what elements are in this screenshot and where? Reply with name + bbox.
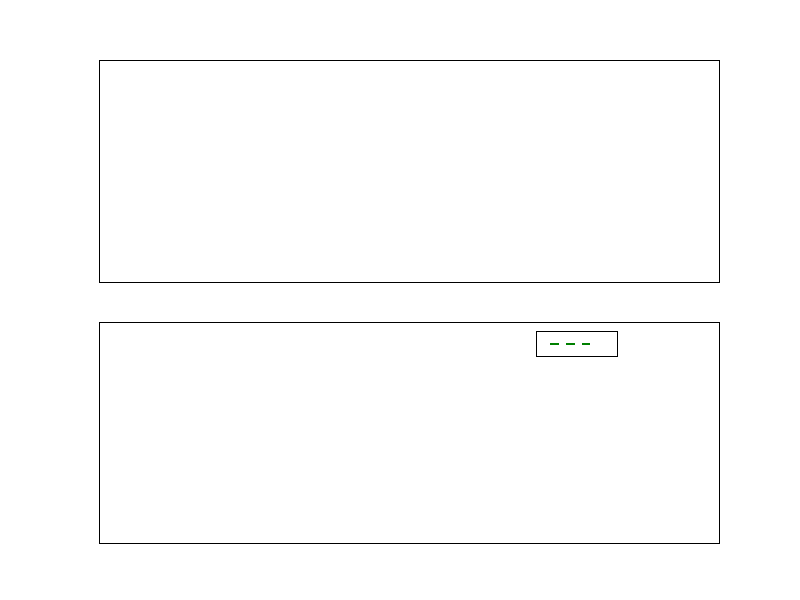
bottom-cumulative-plot xyxy=(100,323,718,542)
bottom-cumulative-axes xyxy=(99,322,720,544)
legend-box xyxy=(536,331,618,357)
figure-canvas xyxy=(0,0,800,600)
mag-limit-legend-swatch xyxy=(549,339,591,349)
top-histogram-plot xyxy=(100,61,718,281)
top-histogram-axes xyxy=(99,60,720,283)
